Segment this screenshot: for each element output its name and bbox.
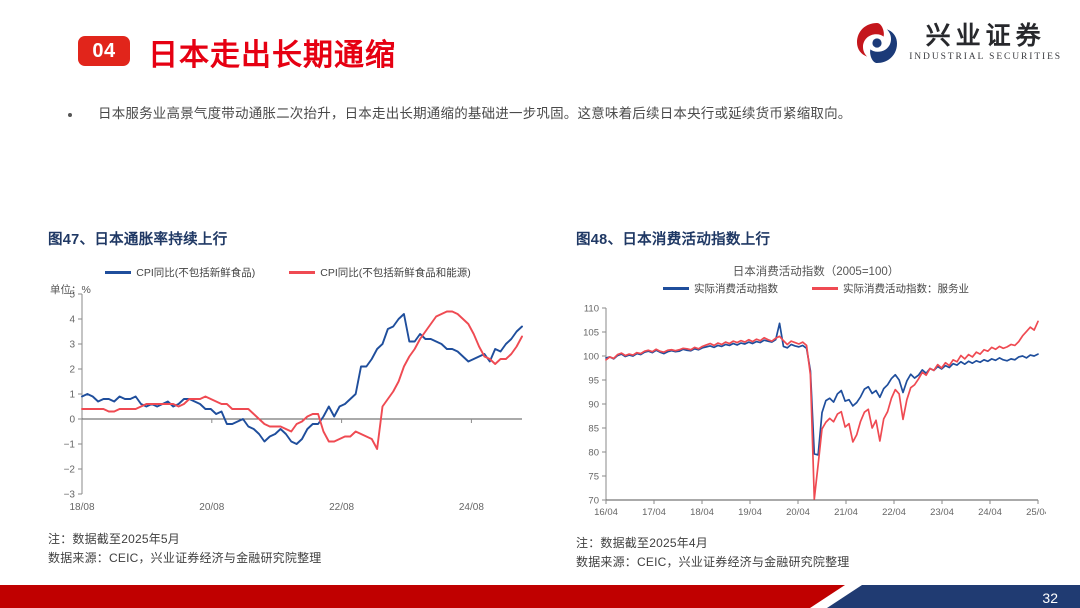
logo-swirl-icon bbox=[854, 20, 900, 66]
legend-item-consumption-services: 实际消费活动指数：服务业 bbox=[812, 281, 969, 296]
svg-text:3: 3 bbox=[69, 340, 75, 351]
svg-text:100: 100 bbox=[583, 352, 599, 363]
svg-text:−1: −1 bbox=[64, 440, 76, 451]
figure-47-source: 数据来源：CEIC，兴业证券经济与金融研究院整理 bbox=[48, 549, 528, 568]
svg-text:18/04: 18/04 bbox=[690, 507, 714, 518]
legend-item-cpi-core: CPI同比(不包括新鲜食品) bbox=[105, 265, 255, 280]
summary-bullet-text: 日本服务业高景气度带动通胀二次抬升，日本走出长期通缩的基础进一步巩固。这意味着后… bbox=[98, 104, 852, 124]
legend-label-cpi-core: CPI同比(不包括新鲜食品) bbox=[136, 265, 255, 280]
svg-text:20/04: 20/04 bbox=[786, 507, 810, 518]
svg-text:22/08: 22/08 bbox=[329, 502, 354, 513]
svg-text:2: 2 bbox=[69, 365, 75, 376]
svg-text:24/04: 24/04 bbox=[978, 507, 1002, 518]
figure-48-plot-area: 70758085909510010511016/0417/0418/0419/0… bbox=[576, 300, 1056, 528]
svg-text:105: 105 bbox=[583, 328, 599, 339]
legend-swatch-red bbox=[812, 287, 838, 289]
page-title: 日本走出长期通缩 bbox=[148, 30, 396, 74]
figure-47-chart: −3−2−101234518/0820/0822/0824/08 bbox=[48, 284, 528, 524]
legend-item-consumption-total: 实际消费活动指数 bbox=[663, 281, 778, 296]
summary-bullet: 日本服务业高景气度带动通胀二次抬升，日本走出长期通缩的基础进一步巩固。这意味着后… bbox=[68, 104, 1028, 124]
legend-label-cpi-core-core: CPI同比(不包括新鲜食品和能源) bbox=[320, 265, 471, 280]
figure-48-subtitle: 日本消费活动指数（2005=100） bbox=[576, 263, 1056, 277]
legend-swatch-blue bbox=[105, 271, 131, 273]
svg-text:18/08: 18/08 bbox=[69, 502, 94, 513]
figure-48-chart: 70758085909510010511016/0417/0418/0419/0… bbox=[576, 300, 1046, 528]
figure-panel-47: 图47、日本通胀率持续上行 CPI同比(不包括新鲜食品) CPI同比(不包括新鲜… bbox=[48, 228, 528, 573]
figure-48-title: 图48、日本消费活动指数上行 bbox=[576, 228, 1056, 249]
svg-text:24/08: 24/08 bbox=[459, 502, 484, 513]
svg-text:90: 90 bbox=[588, 400, 599, 411]
svg-text:4: 4 bbox=[69, 315, 75, 326]
svg-text:0: 0 bbox=[69, 415, 75, 426]
figure-47-unit-label: 单位：% bbox=[50, 282, 91, 297]
legend-swatch-red bbox=[289, 271, 315, 273]
svg-text:−2: −2 bbox=[64, 465, 76, 476]
figure-48-source: 数据来源：CEIC，兴业证券经济与金融研究院整理 bbox=[576, 553, 1056, 572]
svg-text:23/04: 23/04 bbox=[930, 507, 954, 518]
legend-label-consumption-total: 实际消费活动指数 bbox=[694, 281, 778, 296]
logo-chinese-name: 兴业证券 bbox=[926, 23, 1046, 48]
figure-47-legend: CPI同比(不包括新鲜食品) CPI同比(不包括新鲜食品和能源) bbox=[48, 265, 528, 280]
bullet-dot-icon bbox=[68, 113, 72, 117]
legend-item-cpi-core-core: CPI同比(不包括新鲜食品和能源) bbox=[289, 265, 471, 280]
figure-47-note: 注：数据截至2025年5月 bbox=[48, 530, 528, 549]
svg-text:22/04: 22/04 bbox=[882, 507, 906, 518]
slide: 04 日本走出长期通缩 兴业证券 INDUSTRIAL SECURITIES 日… bbox=[0, 0, 1080, 608]
footer-bar: 32 bbox=[0, 583, 1080, 608]
svg-text:−3: −3 bbox=[64, 490, 76, 501]
svg-text:1: 1 bbox=[69, 390, 75, 401]
figure-47-title: 图47、日本通胀率持续上行 bbox=[48, 228, 528, 249]
svg-text:80: 80 bbox=[588, 448, 599, 459]
logo-english-name: INDUSTRIAL SECURITIES bbox=[909, 53, 1062, 63]
figure-panel-48: 图48、日本消费活动指数上行 日本消费活动指数（2005=100） 实际消费活动… bbox=[576, 228, 1056, 573]
legend-label-consumption-services: 实际消费活动指数：服务业 bbox=[843, 281, 969, 296]
svg-text:25/04: 25/04 bbox=[1026, 507, 1046, 518]
figure-47-plot-area: 单位：% −3−2−101234518/0820/0822/0824/08 bbox=[48, 284, 528, 524]
page-number: 32 bbox=[1042, 590, 1058, 606]
svg-text:110: 110 bbox=[584, 304, 599, 315]
svg-text:21/04: 21/04 bbox=[834, 507, 858, 518]
figure-48-legend: 实际消费活动指数 实际消费活动指数：服务业 bbox=[576, 281, 1056, 296]
section-number-badge: 04 bbox=[78, 36, 130, 66]
svg-text:20/08: 20/08 bbox=[199, 502, 224, 513]
svg-text:70: 70 bbox=[588, 496, 599, 507]
figure-48-note: 注：数据截至2025年4月 bbox=[576, 534, 1056, 553]
company-logo: 兴业证券 INDUSTRIAL SECURITIES bbox=[854, 20, 1062, 66]
svg-text:19/04: 19/04 bbox=[738, 507, 762, 518]
svg-text:16/04: 16/04 bbox=[594, 507, 618, 518]
svg-text:95: 95 bbox=[588, 376, 599, 387]
svg-text:85: 85 bbox=[588, 424, 599, 435]
svg-text:75: 75 bbox=[588, 472, 599, 483]
svg-text:17/04: 17/04 bbox=[642, 507, 666, 518]
legend-swatch-blue bbox=[663, 287, 689, 289]
